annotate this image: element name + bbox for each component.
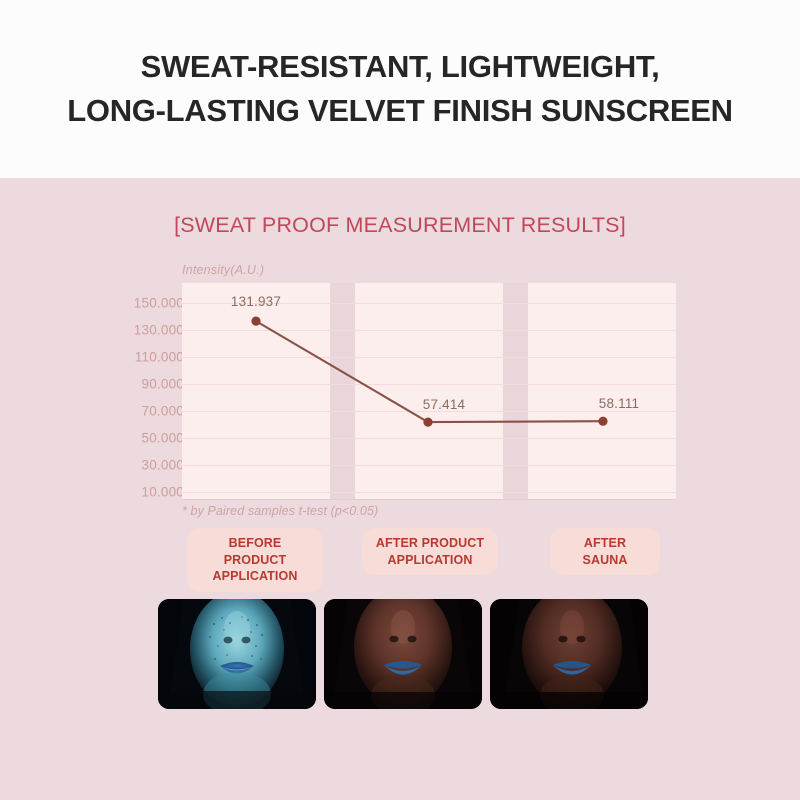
uv-photo-after-sauna-image [490, 599, 648, 709]
y-tick-70000: 70.000 [54, 404, 184, 419]
chart-title: [SWEAT PROOF MEASUREMENT RESULTS] [0, 213, 800, 238]
y-tick-110000: 110.000 [54, 350, 184, 365]
category-label-row: BEFORE PRODUCT APPLICATION AFTER PRODUCT… [110, 528, 690, 572]
headline-line-2: LONG-LASTING VELVET FINISH SUNSCREEN [67, 89, 733, 133]
uv-photo-after-product-image [324, 599, 482, 709]
y-axis-unit-label: Intensity(A.U.) [182, 263, 264, 277]
headline-line-1: SWEAT-RESISTANT, LIGHTWEIGHT, [141, 45, 660, 89]
uv-photo-before-image [158, 599, 316, 709]
category-pill-line: AFTER SAUNA [562, 535, 648, 568]
category-pill-after-sauna: AFTER SAUNA [550, 528, 660, 575]
data-label-before: 131.937 [231, 294, 281, 309]
y-tick-90000: 90.000 [54, 377, 184, 392]
uv-photo-after-product-application [324, 599, 482, 709]
data-label-after-sauna: 58.111 [599, 396, 640, 411]
category-pill-line: BEFORE PRODUCT [199, 535, 311, 568]
category-pill-before-product-application: BEFORE PRODUCT APPLICATION [187, 528, 323, 592]
plot-area: 131.937 57.414 58.111 [182, 283, 676, 500]
sweat-proof-line-chart: Intensity(A.U.) 150.000 130.000 110.000 … [110, 263, 690, 513]
category-pill-line: APPLICATION [199, 568, 311, 585]
header-banner: SWEAT-RESISTANT, LIGHTWEIGHT, LONG-LASTI… [0, 0, 800, 178]
uv-photo-row [158, 599, 648, 709]
category-pill-line: AFTER PRODUCT [374, 535, 486, 552]
results-panel: [SWEAT PROOF MEASUREMENT RESULTS] Intens… [0, 178, 800, 800]
data-series-line [182, 283, 676, 500]
category-pill-after-product-application: AFTER PRODUCT APPLICATION [362, 528, 498, 575]
y-tick-10000: 10.000 [54, 485, 184, 500]
y-tick-50000: 50.000 [54, 431, 184, 446]
y-tick-130000: 130.000 [54, 323, 184, 338]
y-tick-30000: 30.000 [54, 458, 184, 473]
category-pill-line: APPLICATION [374, 552, 486, 569]
uv-photo-before-product-application [158, 599, 316, 709]
statistics-footnote: * by Paired samples t-test (p<0.05) [182, 504, 378, 518]
data-label-after-product: 57.414 [423, 397, 466, 412]
y-tick-150000: 150.000 [54, 296, 184, 311]
uv-photo-after-sauna [490, 599, 648, 709]
